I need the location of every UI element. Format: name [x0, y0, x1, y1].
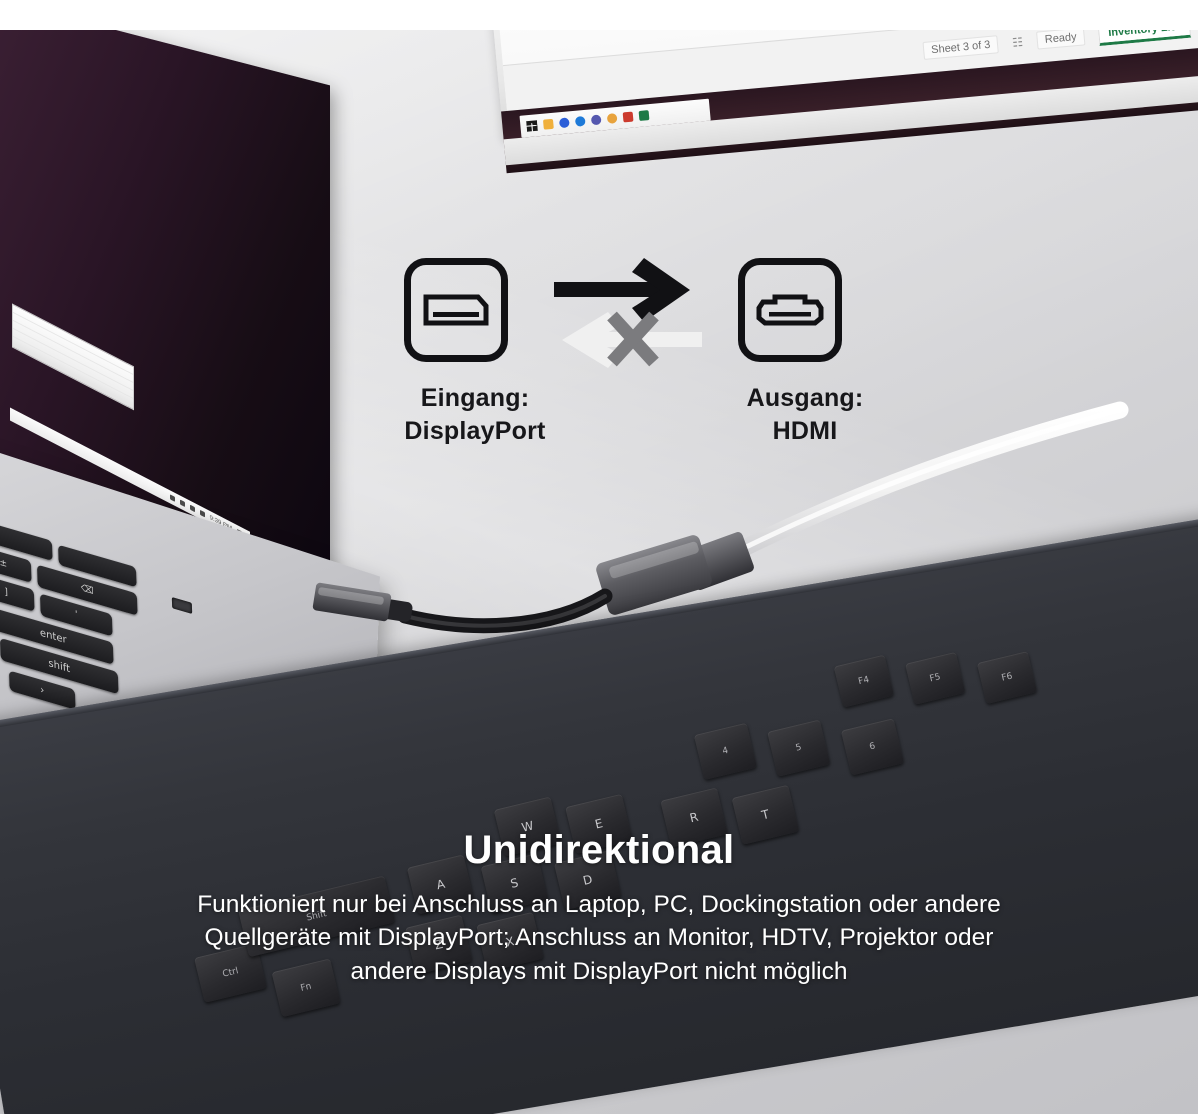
product-feature-image: Sheet 3 of 3 ☷ Ready Inventory List Rem …: [0, 0, 1198, 1114]
callout-block: Unidirektional Funktioniert nur bei Ansc…: [0, 828, 1198, 988]
connector-labels: Eingang: DisplayPort Ausgang: HDMI: [330, 382, 950, 462]
input-connector-box: [404, 258, 508, 362]
callout-body-line-3: andere Displays mit DisplayPort nicht mö…: [94, 955, 1104, 988]
callout-body: Funktioniert nur bei Anschluss an Laptop…: [94, 888, 1104, 988]
page-layout-icon[interactable]: ☷: [1012, 34, 1024, 49]
tray-icon-volume[interactable]: [190, 504, 195, 512]
windows-start-icon[interactable]: [526, 120, 538, 132]
output-connector-box: [738, 258, 842, 362]
output-label-line2: HDMI: [660, 415, 950, 448]
tray-icon-network[interactable]: [170, 494, 175, 502]
app-icon-file-explorer[interactable]: [543, 119, 554, 130]
input-label-line2: DisplayPort: [330, 415, 620, 448]
arrow-left-blocked-icon: [562, 312, 702, 368]
app-icon-pdf-reader[interactable]: [623, 112, 634, 123]
sheet-tab-active[interactable]: Inventory List: [1097, 30, 1191, 45]
callout-body-line-1: Funktioniert nur bei Anschluss an Laptop…: [94, 888, 1104, 921]
displayport-plug: [312, 582, 391, 622]
key-f6[interactable]: F6: [977, 651, 1037, 704]
output-label-line1: Ausgang:: [660, 382, 950, 415]
key-5[interactable]: 5: [767, 719, 830, 776]
callout-headline: Unidirektional: [60, 828, 1138, 872]
app-icon-mail[interactable]: [575, 116, 586, 127]
key-f4[interactable]: F4: [834, 655, 894, 708]
displayport-connector-icon: [423, 293, 489, 327]
input-label-line1: Eingang:: [330, 382, 620, 415]
app-icon-teams[interactable]: [591, 114, 602, 125]
external-monitor: Sheet 3 of 3 ☷ Ready Inventory List Rem …: [490, 30, 1198, 189]
hdmi-connector-icon: [755, 292, 825, 328]
arrow-right-icon: [554, 258, 690, 322]
key-f5[interactable]: F5: [905, 652, 965, 705]
key-4[interactable]: 4: [694, 723, 757, 780]
app-icon-chrome[interactable]: [607, 113, 618, 124]
sheet-count-label: Sheet 3 of 3: [922, 35, 999, 60]
photo-scene: Sheet 3 of 3 ☷ Ready Inventory List Rem …: [0, 30, 1198, 1114]
tray-icon-bluetooth[interactable]: [200, 510, 205, 518]
input-label: Eingang: DisplayPort: [330, 382, 620, 462]
spreadsheet-mode-label: Ready: [1036, 30, 1085, 49]
app-icon-excel[interactable]: [639, 110, 650, 121]
laptop-open-window[interactable]: [12, 303, 134, 410]
callout-body-line-2: Quellgeräte mit DisplayPort; Anschluss a…: [94, 921, 1104, 954]
key-6[interactable]: 6: [841, 718, 904, 775]
output-label: Ausgang: HDMI: [660, 382, 950, 462]
tray-icon-battery[interactable]: [180, 499, 185, 507]
app-icon-edge-browser[interactable]: [559, 117, 570, 128]
direction-arrows: [550, 256, 730, 374]
